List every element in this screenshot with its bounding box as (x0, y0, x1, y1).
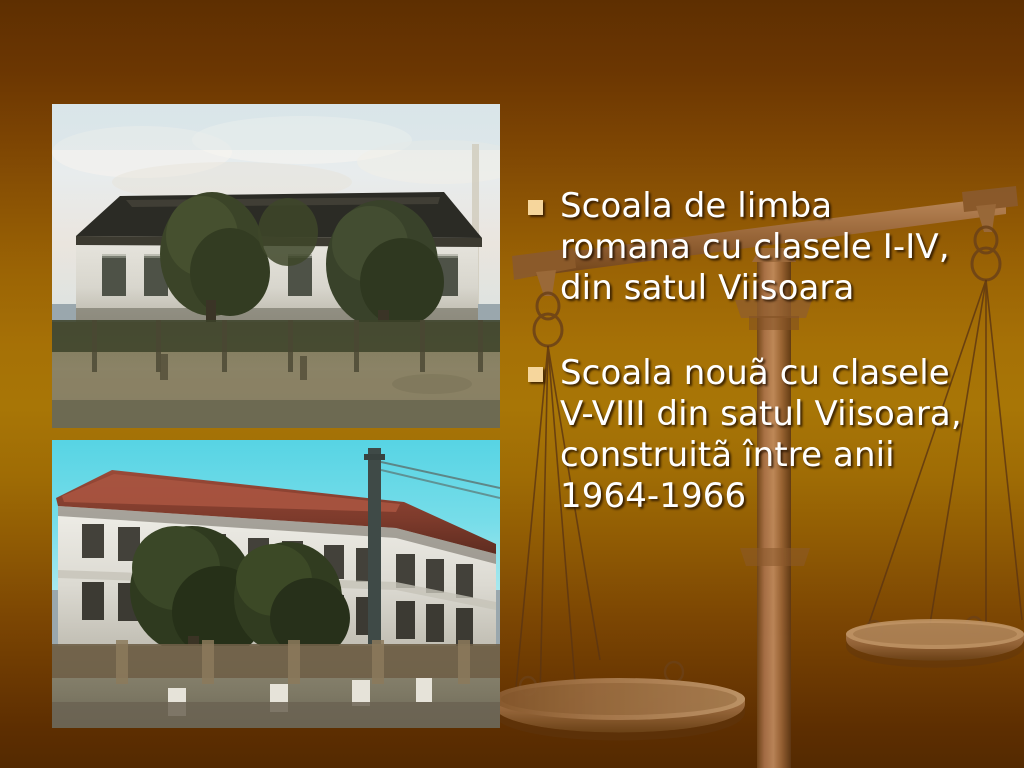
old-school-photo (52, 104, 500, 428)
bullet-item-2: Scoala nouã cu clasele V-VIII din satul … (528, 353, 968, 517)
bullet-item-1: Scoala de limba romana cu clasele I-IV, … (528, 186, 968, 309)
square-bullet-icon (528, 200, 543, 215)
scales-right-pan (846, 619, 1024, 668)
bullet-text-1: Scoala de limba romana cu clasele I-IV, … (560, 186, 968, 309)
slide: Scoala de limba romana cu clasele I-IV, … (0, 0, 1024, 768)
scales-right-pan-rings (866, 617, 982, 639)
content-placeholder: Scoala de limba romana cu clasele I-IV, … (528, 186, 968, 517)
scales-left-pan (493, 678, 745, 741)
new-school-photo (52, 440, 500, 728)
scales-right-hanger (972, 227, 1000, 280)
bullet-text-2: Scoala nouã cu clasele V-VIII din satul … (560, 353, 968, 517)
scales-left-pan-rings (520, 662, 683, 695)
square-bullet-icon (528, 367, 543, 382)
